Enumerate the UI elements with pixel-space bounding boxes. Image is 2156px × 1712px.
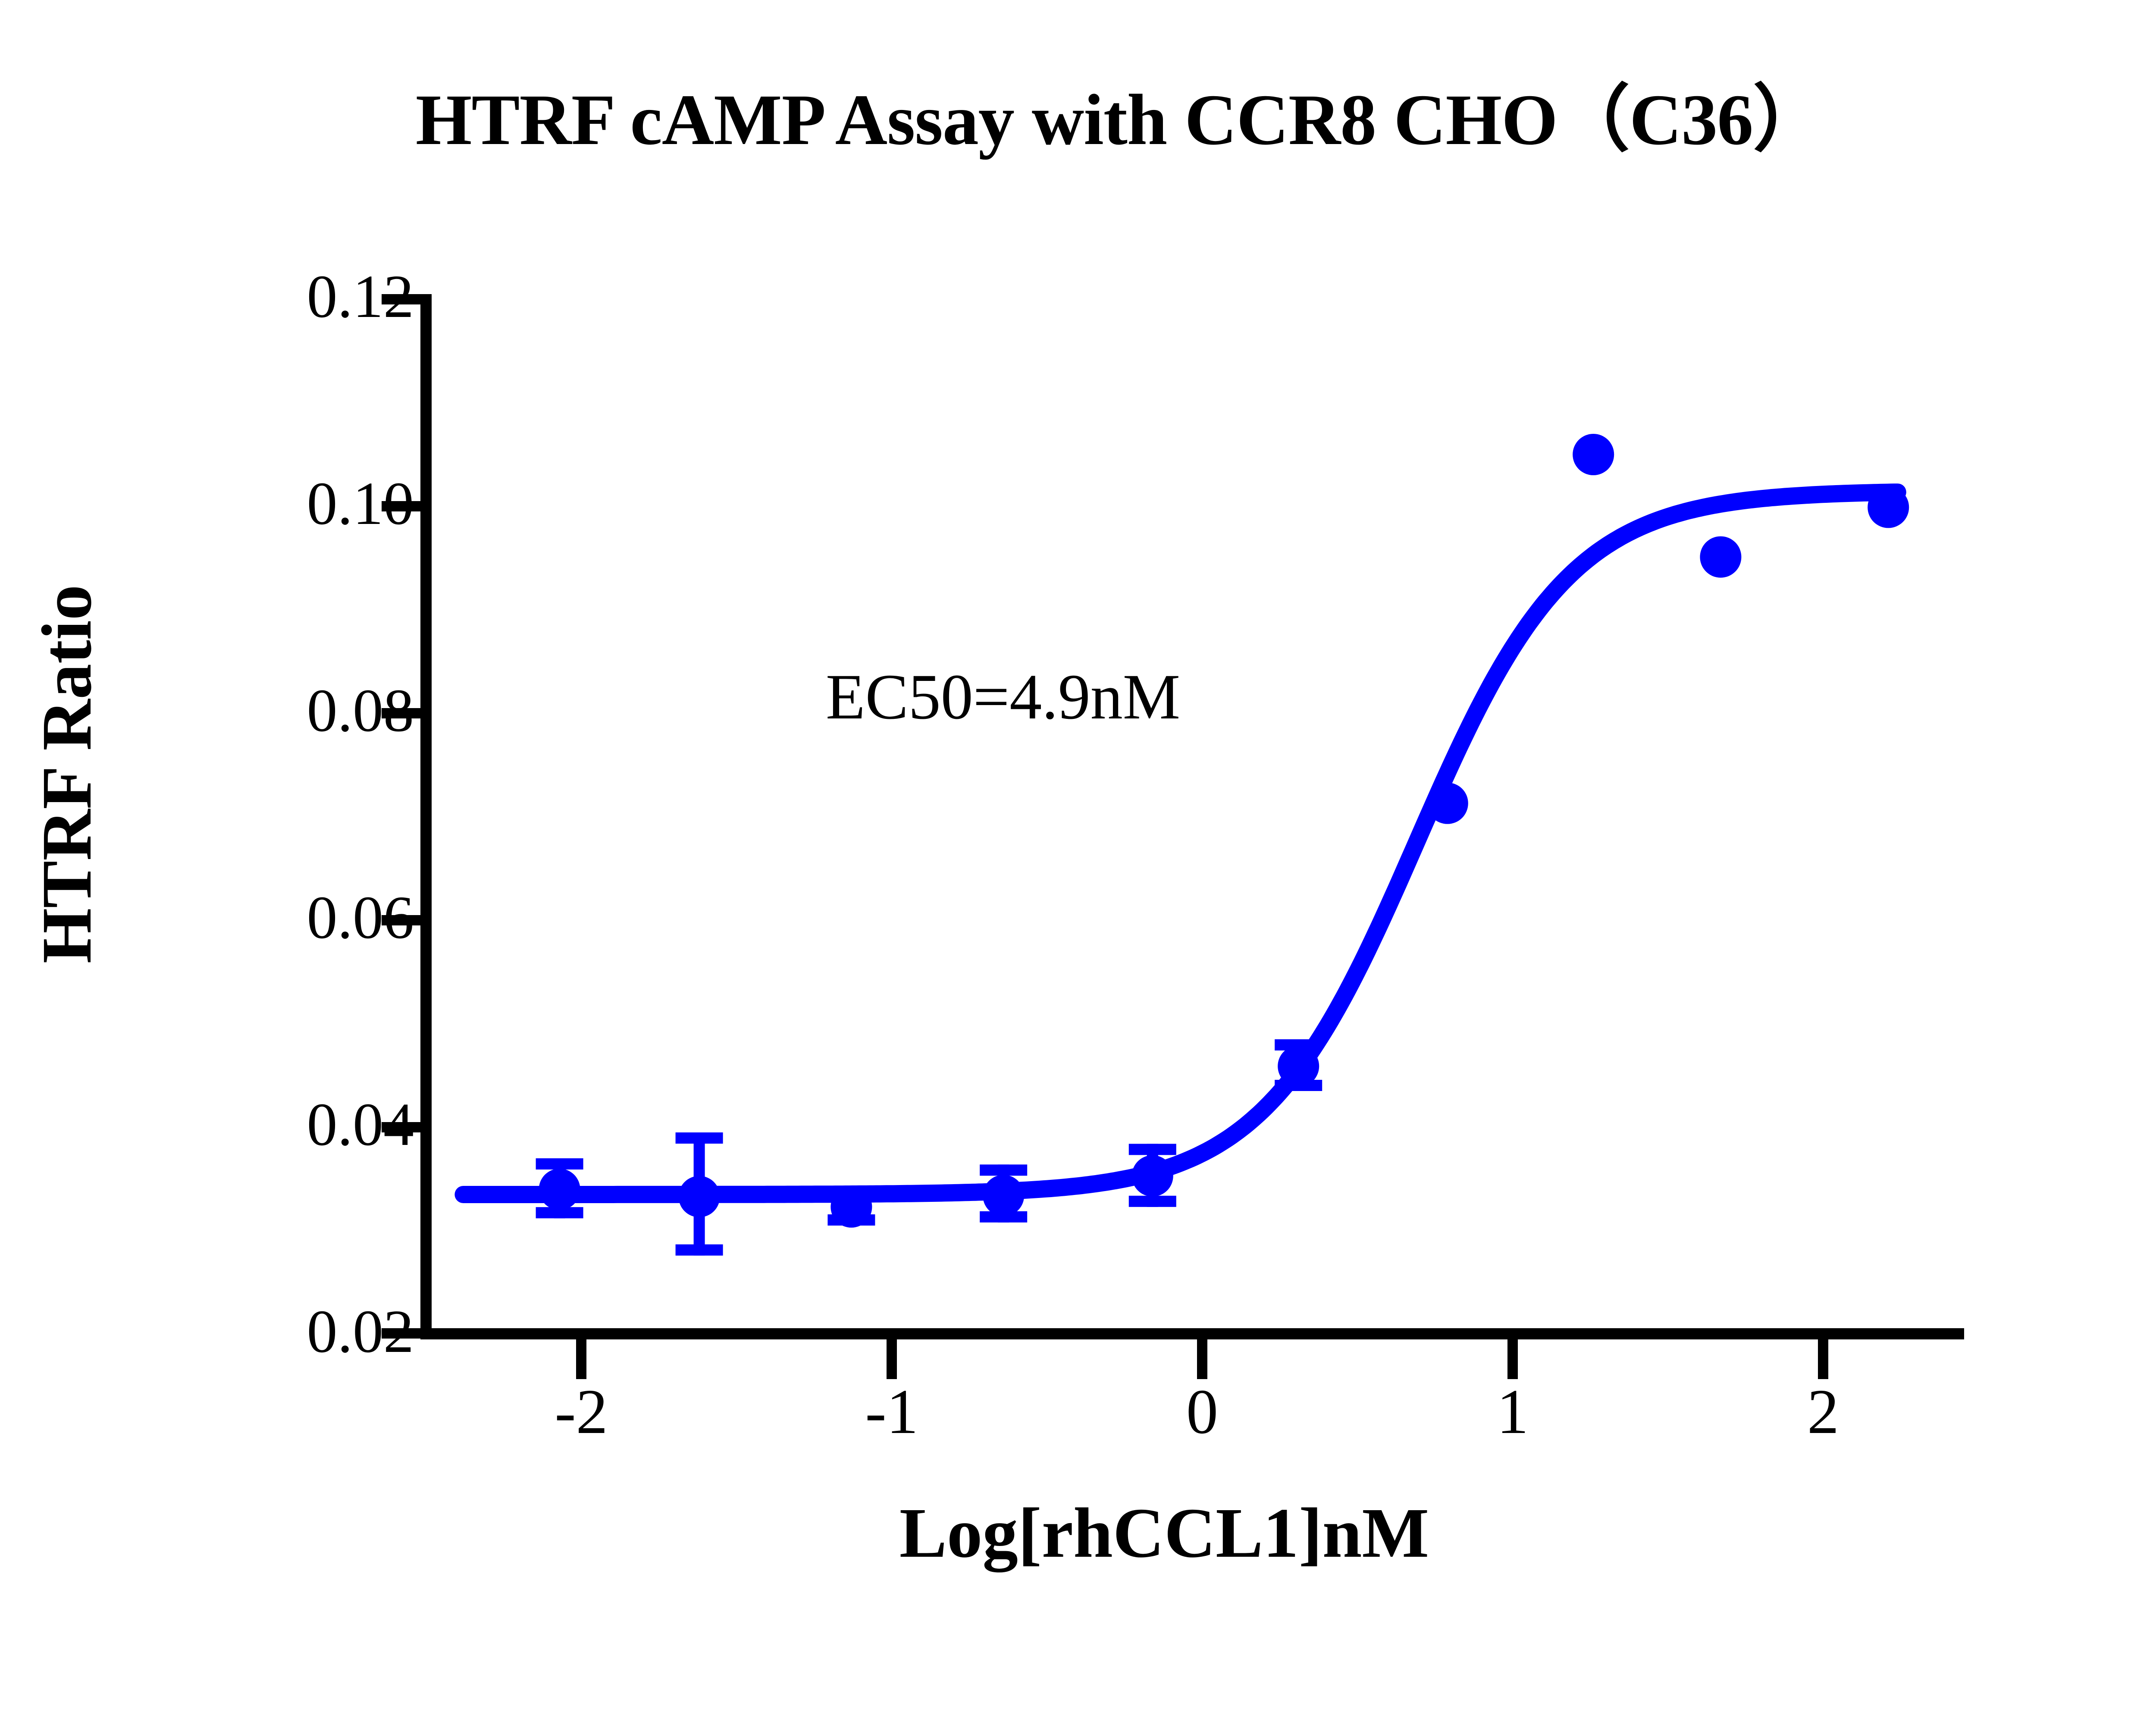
y-axis-spine: [420, 294, 432, 1338]
data-points: [539, 434, 1909, 1228]
x-axis-spine: [420, 1328, 1964, 1339]
data-point: [539, 1169, 580, 1210]
data-point: [1868, 486, 1909, 528]
data-point: [830, 1186, 872, 1228]
error-bar-cap: [1129, 1144, 1176, 1155]
plot-area: [0, 0, 2156, 1712]
fit-curve: [463, 492, 1897, 1195]
data-point: [1700, 536, 1741, 578]
data-point: [1573, 434, 1614, 475]
data-point: [679, 1176, 720, 1217]
error-bar-cap: [676, 1132, 723, 1144]
axes: [382, 294, 1964, 1379]
y-axis-ticks: [382, 294, 421, 1339]
data-point: [1427, 783, 1468, 824]
error-bar-cap: [980, 1164, 1027, 1176]
data-point: [1132, 1155, 1173, 1197]
chart-figure: HTRF cAMP Assay with CCR8 CHO（C36） HTRF …: [0, 0, 2156, 1712]
data-point: [1278, 1045, 1319, 1087]
fit-curve-path: [463, 492, 1897, 1195]
error-bar-cap: [536, 1158, 583, 1170]
error-bar-cap: [1129, 1196, 1176, 1207]
x-axis-ticks: [576, 1339, 1828, 1379]
data-point: [983, 1175, 1024, 1216]
error-bar-cap: [676, 1245, 723, 1256]
